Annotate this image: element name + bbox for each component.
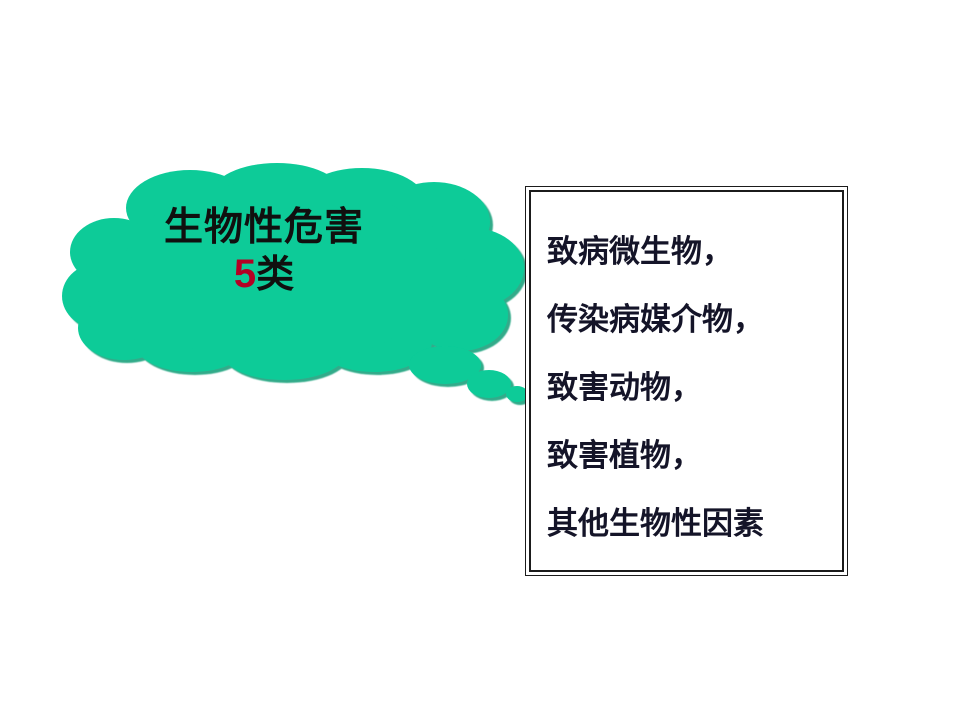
slide-canvas: 生物性危害 5类 致病微生物， 传染病媒介物， 致害动物， 致害植物， 其他生物… [0, 0, 960, 720]
cloud-tail-bubbles [409, 346, 528, 402]
cloud-shape-svg [62, 160, 542, 420]
thought-cloud-callout: 生物性危害 5类 [62, 160, 542, 420]
list-item: 传染病媒介物， [547, 286, 842, 354]
tail-bubble-medium [467, 370, 511, 398]
list-item: 其他生物性因素 [547, 490, 842, 558]
list-item: 致病微生物， [547, 218, 842, 286]
list-item: 致害植物， [547, 422, 842, 490]
hazard-list-box: 致病微生物， 传染病媒介物， 致害动物， 致害植物， 其他生物性因素 [525, 186, 848, 576]
hazard-list-box-inner-border: 致病微生物， 传染病媒介物， 致害动物， 致害植物， 其他生物性因素 [529, 190, 844, 572]
list-item: 致害动物， [547, 354, 842, 422]
